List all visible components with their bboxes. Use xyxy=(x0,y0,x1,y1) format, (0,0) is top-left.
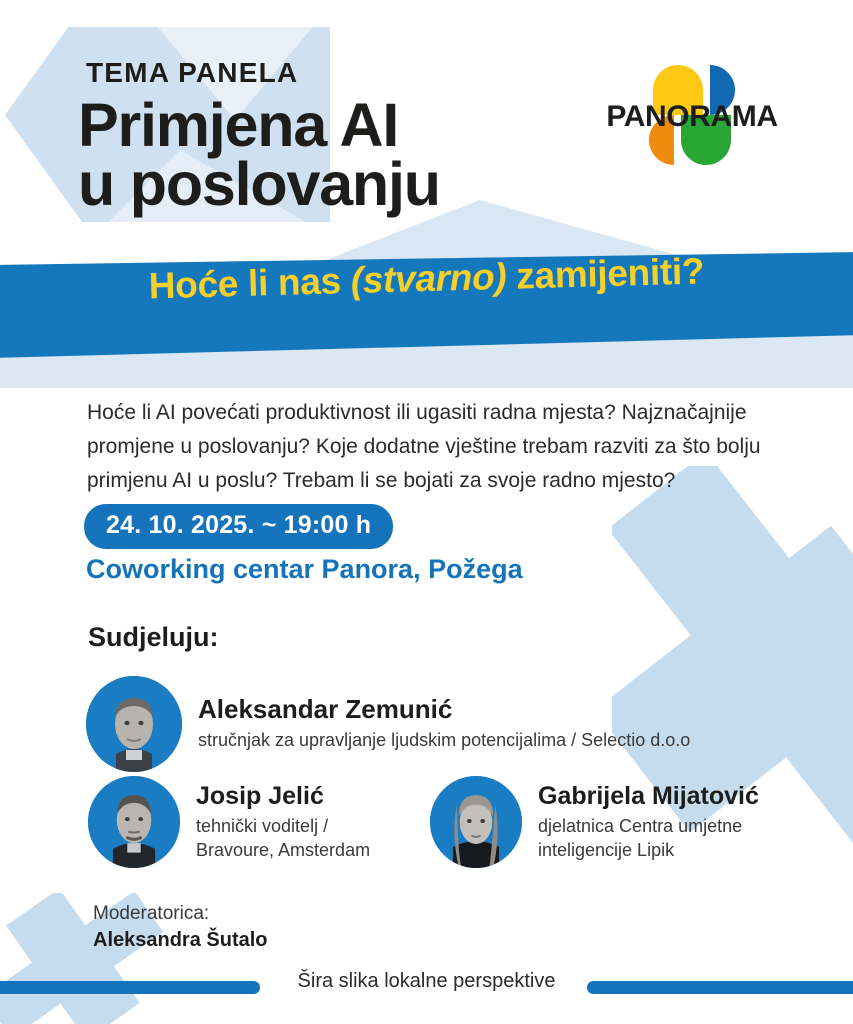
moderator-label: Moderatorica: xyxy=(93,901,268,927)
footer-tagline: Šira slika lokalne perspektive xyxy=(0,970,853,993)
avatar-photo-2 xyxy=(88,776,180,868)
speaker-text: Aleksandar Zemunić stručnjak za upravlja… xyxy=(198,695,690,752)
poster-canvas: TEMA PANELA Primjena AI u poslovanju PAN… xyxy=(0,0,853,1024)
logo-wordmark: PANORAMA xyxy=(592,100,792,134)
avatar-photo-1 xyxy=(86,676,182,772)
speaker-card: Gabrijela Mijatović djelatnica Centra um… xyxy=(430,776,759,868)
kicker-label: TEMA PANELA xyxy=(86,57,298,89)
avatar xyxy=(430,776,522,868)
speaker-role: stručnjak za upravljanje ljudskim potenc… xyxy=(198,728,690,752)
banner-text-emphasis: (stvarno) xyxy=(350,256,507,301)
speakers-heading: Sudjeluju: xyxy=(88,622,219,653)
event-venue: Coworking centar Panora, Požega xyxy=(86,554,523,585)
banner-text-before: Hoće li nas xyxy=(148,260,351,306)
speaker-role: tehnički voditelj / Bravoure, Amsterdam xyxy=(196,814,370,863)
page-title: Primjena AI u poslovanju xyxy=(78,96,440,214)
avatar xyxy=(86,676,182,772)
speaker-name: Gabrijela Mijatović xyxy=(538,782,759,811)
panorama-logo: PANORAMA xyxy=(592,47,792,182)
banner-text-after: zamijeniti? xyxy=(506,250,705,296)
moderator-name: Aleksandra Šutalo xyxy=(93,927,268,954)
speaker-card: Aleksandar Zemunić stručnjak za upravlja… xyxy=(86,676,690,772)
speaker-role: djelatnica Centra umjetne inteligencije … xyxy=(538,814,759,863)
avatar-photo-3 xyxy=(430,776,522,868)
speaker-card: Josip Jelić tehnički voditelj / Bravoure… xyxy=(88,776,370,868)
speaker-text: Josip Jelić tehnički voditelj / Bravoure… xyxy=(196,782,370,862)
moderator-block: Moderatorica: Aleksandra Šutalo xyxy=(93,901,268,954)
event-datetime-badge: 24. 10. 2025. ~ 19:00 h xyxy=(84,504,393,549)
speaker-name: Josip Jelić xyxy=(196,782,370,811)
lead-paragraph: Hoće li AI povećati produktivnost ili ug… xyxy=(87,396,793,498)
light-blue-band xyxy=(0,300,853,388)
speaker-text: Gabrijela Mijatović djelatnica Centra um… xyxy=(538,782,759,862)
speaker-name: Aleksandar Zemunić xyxy=(198,695,690,725)
banner-headline: Hoće li nas (stvarno) zamijeniti? xyxy=(0,246,853,311)
avatar xyxy=(88,776,180,868)
